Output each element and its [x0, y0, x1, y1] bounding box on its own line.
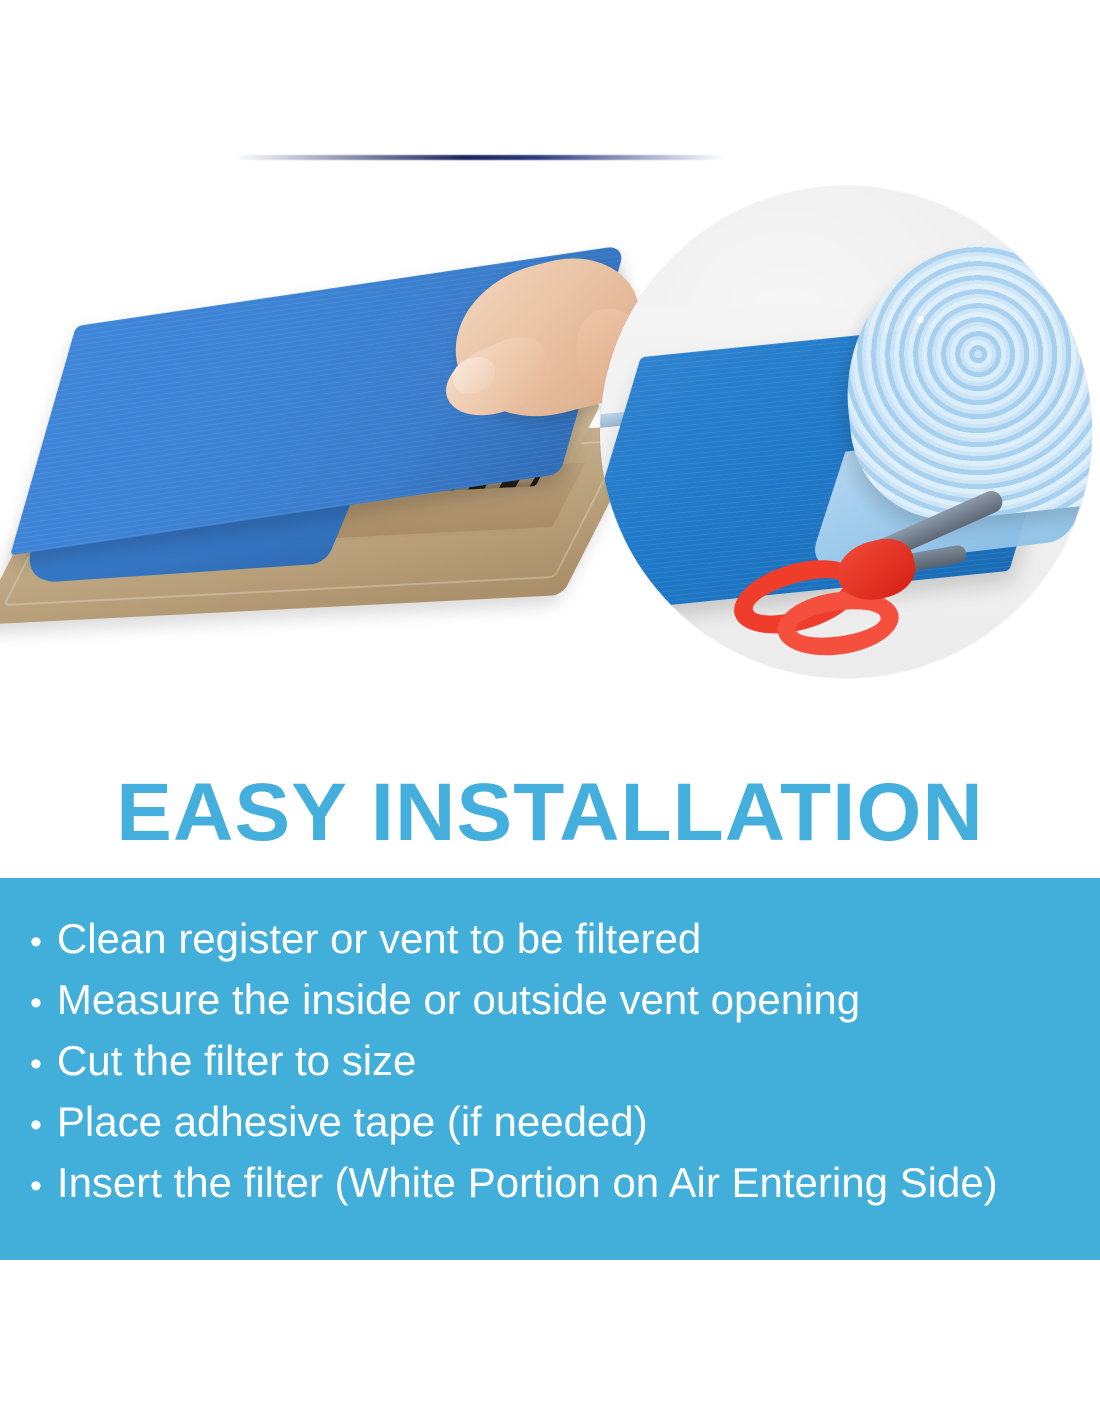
list-item-label: Cut the filter to size: [57, 1032, 416, 1089]
list-item-label: Measure the inside or outside vent openi…: [57, 971, 860, 1028]
bullet-icon: •: [30, 914, 42, 971]
bullet-icon: •: [30, 1036, 42, 1093]
photo-circle-inset: [600, 186, 1092, 678]
list-item: • Cut the filter to size: [30, 1032, 1090, 1093]
instructions-list: • Clean register or vent to be filtered …: [30, 910, 1090, 1215]
accent-rule-divider: [150, 155, 850, 160]
bullet-icon: •: [30, 1158, 42, 1215]
list-item: • Place adhesive tape (if needed): [30, 1093, 1090, 1154]
list-item-label: Insert the filter (White Portion on Air …: [57, 1154, 998, 1211]
bullet-icon: •: [30, 1097, 42, 1154]
scissors-icon: [707, 511, 992, 671]
instructions-panel: • Clean register or vent to be filtered …: [0, 878, 1100, 1260]
photo-hand-inserting-filter: [10, 240, 630, 670]
list-item: • Measure the inside or outside vent ope…: [30, 971, 1090, 1032]
page-title: EASY INSTALLATION: [0, 772, 1100, 854]
list-item: • Clean register or vent to be filtered: [30, 910, 1090, 971]
bullet-icon: •: [30, 975, 42, 1032]
product-photo-area: [0, 0, 1100, 760]
list-item: • Insert the filter (White Portion on Ai…: [30, 1154, 1090, 1215]
list-item-label: Clean register or vent to be filtered: [57, 910, 701, 967]
list-item-label: Place adhesive tape (if needed): [57, 1093, 648, 1150]
